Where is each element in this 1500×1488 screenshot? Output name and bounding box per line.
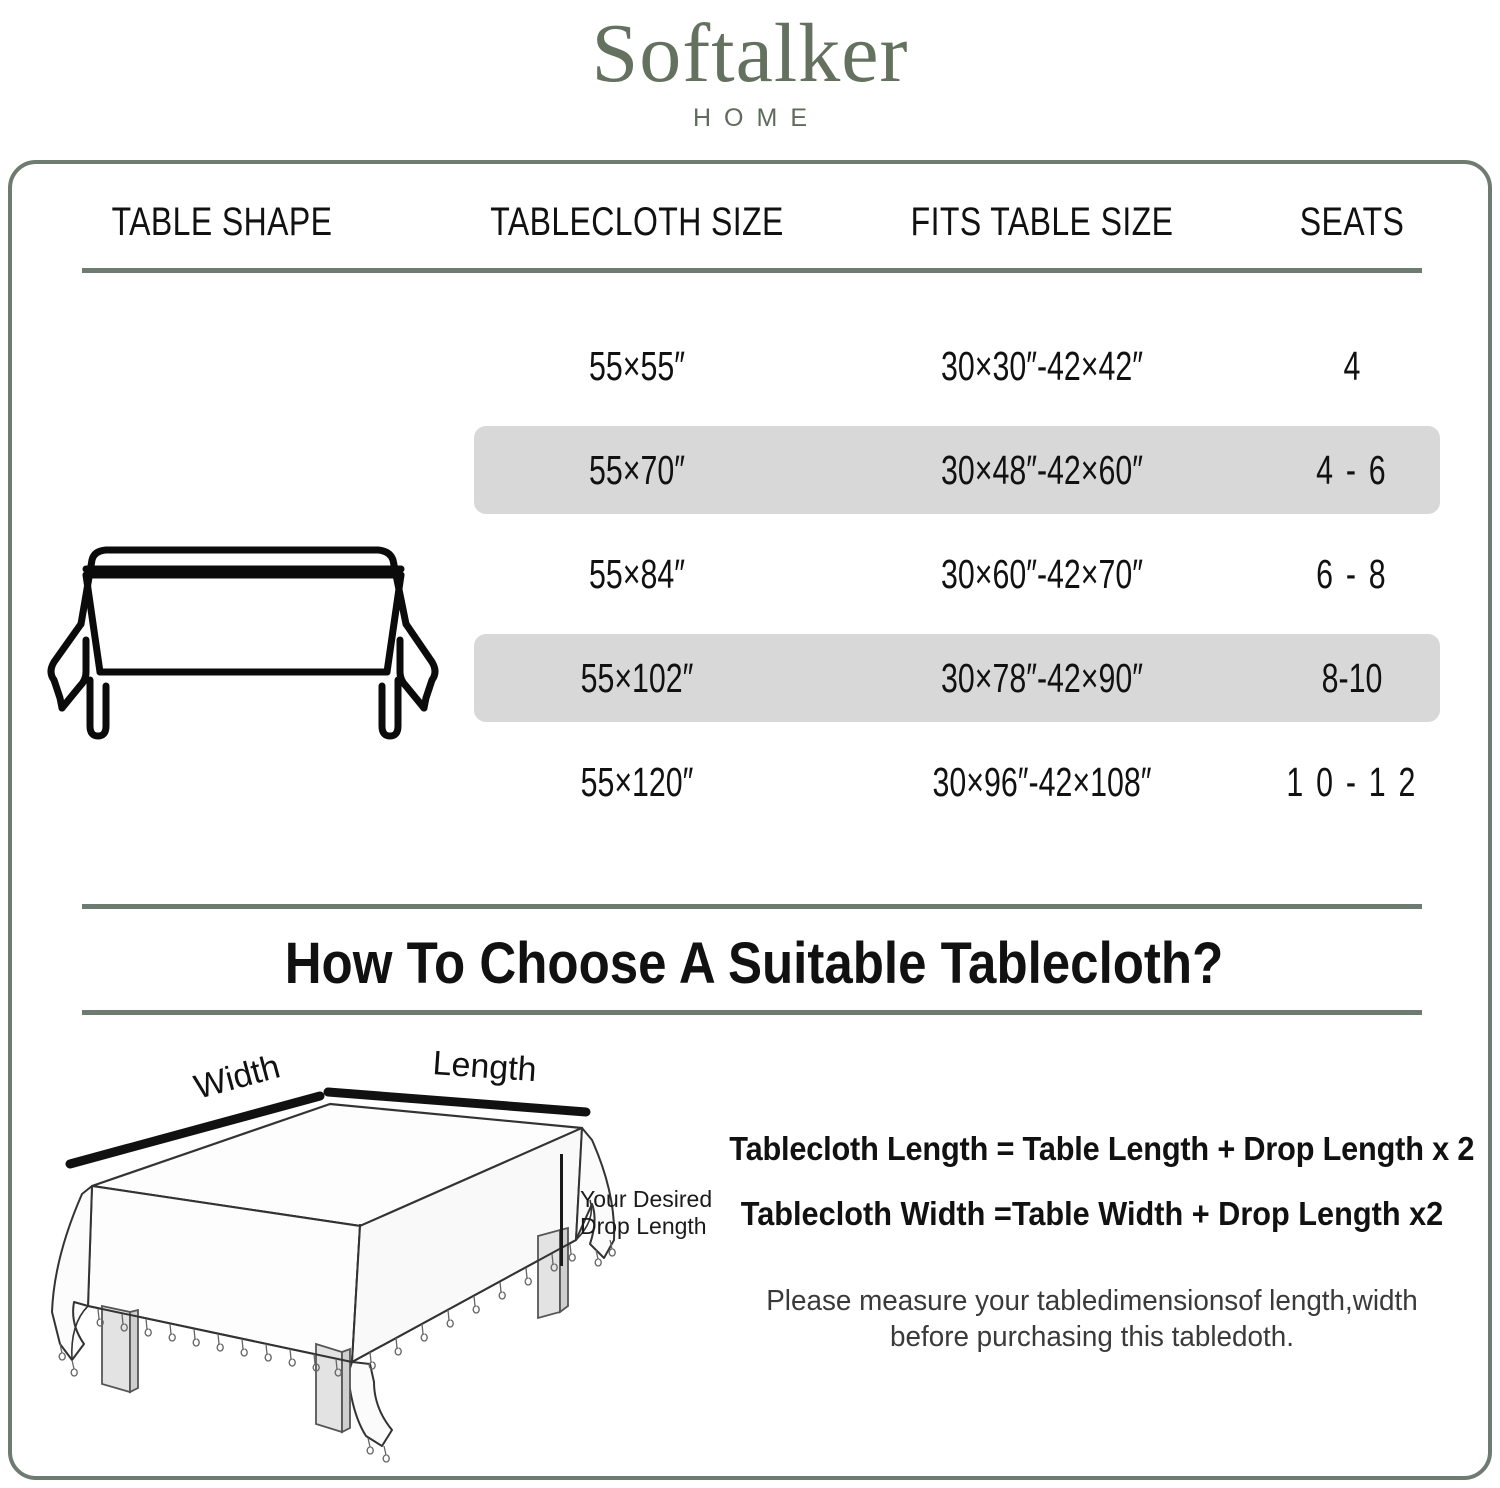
cell-seats: 4 bbox=[1256, 314, 1448, 418]
formula-tablecloth-width: Tablecloth Width =Table Width + Drop Len… bbox=[729, 1189, 1454, 1238]
brand-name: Softalker bbox=[0, 8, 1500, 100]
svg-text:Width: Width bbox=[190, 1048, 284, 1107]
table-row: 55×120″ 30×96″-42×108″ 1 0 - 1 2 bbox=[12, 730, 1496, 834]
table-row: 55×84″ 30×60″-42×70″ 6 - 8 bbox=[12, 522, 1496, 626]
guide-bottom-divider bbox=[82, 1010, 1422, 1015]
measurement-note-line2: before purchasing this tabledoth. bbox=[718, 1319, 1467, 1355]
column-header-seats: SEATS bbox=[1248, 192, 1456, 252]
size-chart-rows: 55×55″ 30×30″-42×42″ 4 55×70″ 30×48″-42×… bbox=[12, 314, 1496, 834]
size-chart-header-row: TABLE SHAPE TABLECLOTH SIZE FITS TABLE S… bbox=[12, 192, 1496, 252]
cell-fits-table-size: 30×60″-42×70″ bbox=[894, 522, 1190, 626]
brand-header: Softalker HOME bbox=[0, 8, 1500, 133]
formula-block: Tablecloth Length = Table Length + Drop … bbox=[702, 1124, 1482, 1355]
cell-fits-table-size: 30×96″-42×108″ bbox=[894, 730, 1190, 834]
formula-tablecloth-length: Tablecloth Length = Table Length + Drop … bbox=[729, 1124, 1454, 1173]
cell-fits-table-size: 30×78″-42×90″ bbox=[894, 626, 1190, 730]
svg-text:Length: Length bbox=[431, 1044, 537, 1089]
cell-seats: 1 0 - 1 2 bbox=[1256, 730, 1448, 834]
column-header-table-shape: TABLE SHAPE bbox=[54, 192, 390, 252]
header-divider bbox=[82, 268, 1422, 273]
size-chart: TABLE SHAPE TABLECLOTH SIZE FITS TABLE S… bbox=[12, 164, 1496, 894]
cell-fits-table-size: 30×30″-42×42″ bbox=[894, 314, 1190, 418]
measurement-note: Please measure your tabledimensionsof le… bbox=[718, 1283, 1467, 1355]
tablecloth-measurement-diagram: Width Length bbox=[30, 1044, 730, 1464]
cell-seats: 4 - 6 bbox=[1256, 418, 1448, 522]
column-header-tablecloth-size: TABLECLOTH SIZE bbox=[473, 192, 801, 252]
guide-title: How To Choose A Suitable Tablecloth? bbox=[101, 922, 1407, 1006]
column-header-fits-table-size: FITS TABLE SIZE bbox=[882, 192, 1202, 252]
table-row: 55×102″ 30×78″-42×90″ 8-10 bbox=[12, 626, 1496, 730]
cell-tablecloth-size: 55×120″ bbox=[485, 730, 788, 834]
cell-tablecloth-size: 55×55″ bbox=[485, 314, 788, 418]
table-row: 55×70″ 30×48″-42×60″ 4 - 6 bbox=[12, 418, 1496, 522]
cell-tablecloth-size: 55×70″ bbox=[485, 418, 788, 522]
cell-seats: 8-10 bbox=[1256, 626, 1448, 730]
measurement-note-line1: Please measure your tabledimensionsof le… bbox=[718, 1283, 1467, 1319]
cell-seats: 6 - 8 bbox=[1256, 522, 1448, 626]
brand-tagline: HOME bbox=[0, 104, 1500, 133]
cell-tablecloth-size: 55×102″ bbox=[485, 626, 788, 730]
cell-fits-table-size: 30×48″-42×60″ bbox=[894, 418, 1190, 522]
drop-length-measurement-line bbox=[560, 1154, 563, 1266]
infographic-frame: TABLE SHAPE TABLECLOTH SIZE FITS TABLE S… bbox=[8, 160, 1492, 1480]
cell-tablecloth-size: 55×84″ bbox=[485, 522, 788, 626]
table-row: 55×55″ 30×30″-42×42″ 4 bbox=[12, 314, 1496, 418]
guide-top-divider bbox=[82, 904, 1422, 909]
